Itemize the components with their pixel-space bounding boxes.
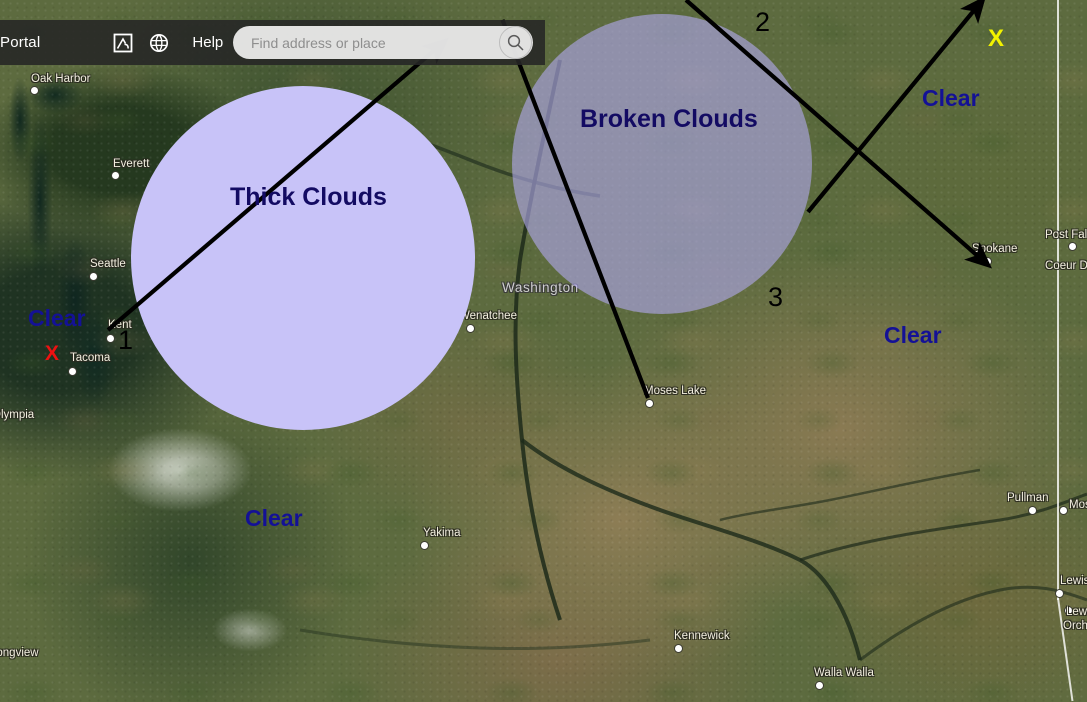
place-label-walla-walla: Walla Walla — [814, 667, 874, 679]
place-label-wenatchee: Wenatchee — [459, 310, 517, 322]
place-dot — [466, 324, 475, 333]
place-dot — [1068, 242, 1077, 251]
place-dot — [1059, 506, 1068, 515]
place-dot — [68, 367, 77, 376]
place-label-post-falls: Post Falls — [1045, 229, 1087, 241]
place-label-spokane: Spokane — [972, 243, 1017, 255]
place-dot — [1028, 506, 1037, 515]
search-icon — [506, 33, 525, 52]
search-box[interactable] — [233, 26, 533, 59]
place-label-olympia: Olympia — [0, 409, 34, 421]
place-label-moscow: Moscow — [1069, 499, 1087, 511]
place-label-seattle: Seattle — [90, 258, 126, 270]
search-button[interactable] — [499, 26, 532, 59]
portal-brand-label[interactable]: Portal — [0, 34, 40, 51]
place-dot — [89, 272, 98, 281]
search-input[interactable] — [249, 34, 499, 52]
place-label-kennewick: Kennewick — [674, 630, 730, 642]
map-chart-icon[interactable] — [112, 32, 134, 54]
place-label-yakima: Yakima — [423, 527, 461, 539]
place-dot — [645, 399, 654, 408]
place-label-tacoma: Tacoma — [70, 352, 110, 364]
place-label-oak-harbor: Oak Harbor — [31, 73, 90, 85]
map-application: Washington Oak Harbor Everett Seattle Ke… — [0, 0, 1087, 702]
place-label-longview: Longview — [0, 647, 39, 659]
state-label-washington: Washington — [502, 280, 579, 295]
place-dot — [30, 86, 39, 95]
rivers-layer — [0, 0, 1087, 702]
globe-icon[interactable] — [148, 32, 170, 54]
place-dot — [983, 257, 992, 266]
place-label-everett: Everett — [113, 158, 149, 170]
place-label-lewiston-orchards: Lewiston — [1066, 606, 1087, 618]
place-label-kent: Kent — [108, 319, 132, 331]
place-label-moses-lake: Moses Lake — [644, 385, 706, 397]
place-label-lewiston-orchards-line2: Orchards — [1063, 620, 1087, 632]
satellite-basemap[interactable]: Washington — [0, 0, 1087, 702]
place-label-lewiston: Lewiston — [1060, 575, 1087, 587]
place-dot — [1055, 589, 1064, 598]
place-label-pullman: Pullman — [1007, 492, 1049, 504]
place-dot — [111, 171, 120, 180]
place-dot — [420, 541, 429, 550]
place-dot — [674, 644, 683, 653]
help-link[interactable]: Help — [192, 34, 223, 51]
place-dot — [815, 681, 824, 690]
place-dot — [106, 334, 115, 343]
place-label-coeur-dalene: Coeur D'Alene — [1045, 260, 1087, 272]
